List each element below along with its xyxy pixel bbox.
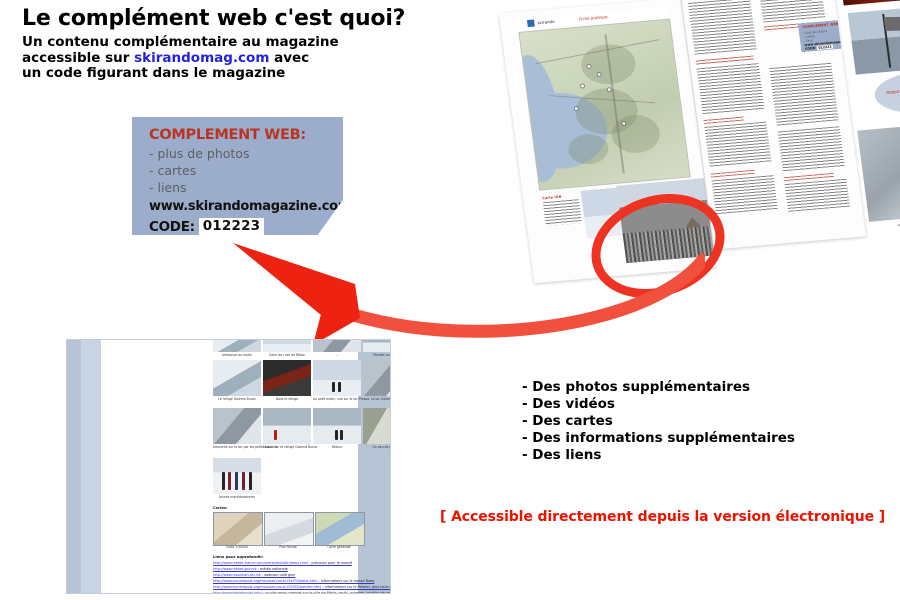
webpage-left-band-inner	[81, 340, 101, 593]
complement-web-box: COMPLEMENT WEB: - plus de photos - carte…	[132, 117, 343, 235]
map-thumb-3[interactable]	[315, 512, 365, 546]
gallery-thumb[interactable]	[213, 360, 261, 396]
magazine-mid-text-3	[704, 122, 771, 167]
gallery-caption: Jeunes macédoniennes	[213, 495, 261, 499]
gallery-caption: Au petit matin, vue sur le lac Prespa	[313, 397, 361, 401]
gallery-caption: ...	[313, 353, 361, 357]
complement-item-cartes: - cartes	[149, 163, 196, 178]
magazine-brand-label: skirando	[537, 18, 555, 24]
magazine-photo-dark	[839, 0, 900, 5]
footer-note: [ Accessible directement depuis la versi…	[440, 509, 885, 525]
gallery-caption: Montée au refuge	[363, 353, 391, 357]
page-title: Le complément web c'est quoi?	[22, 6, 442, 32]
gallery-thumb[interactable]	[313, 360, 361, 396]
magazine-oval-text: Reportage en photographie	[886, 85, 900, 95]
webpage-section-label: Cartes:	[213, 506, 228, 510]
feature-item-photos: - Des photos supplémentaires	[522, 379, 852, 396]
feature-item-informations: - Des informations supplémentaires	[522, 430, 852, 447]
complement-item-liens: - liens	[149, 180, 187, 195]
header-subtitle-line-1: Un contenu complémentaire au magazine	[22, 35, 442, 51]
header-line2-suffix: avec	[269, 50, 309, 66]
feature-item-liens: - Des liens	[522, 447, 852, 464]
magazine-mid-text-8	[778, 126, 845, 171]
gallery-thumb[interactable]	[213, 339, 261, 352]
skirandomag-link[interactable]: skirandomag.com	[134, 50, 269, 66]
webpage-screenshot: ambiance au matin Dans les rues de Bitol…	[66, 339, 391, 594]
gallery-thumb[interactable]	[263, 339, 311, 352]
webpage-content: ambiance au matin Dans les rues de Bitol…	[101, 340, 358, 593]
webpage-link[interactable]: http://www.mountain-ski.mk : webcam coté…	[213, 573, 295, 577]
magazine-text-block-a	[543, 199, 582, 226]
gallery-thumb[interactable]	[363, 360, 391, 396]
magazine-map-caption: Carte IGN	[542, 195, 562, 201]
feature-list: - Des photos supplémentaires - Des vidéo…	[522, 379, 852, 464]
gallery-thumb[interactable]	[213, 458, 261, 494]
magazine-photo-ski	[857, 120, 900, 222]
magazine-mid-text-2	[697, 63, 765, 114]
header-subtitle-line-2: accessible sur skirandomag.com avec	[22, 51, 442, 67]
gallery-thumb[interactable]	[263, 360, 311, 396]
map-thumb-2[interactable]	[264, 512, 314, 546]
complement-web-heading: COMPLEMENT WEB:	[149, 127, 306, 143]
map-thumb-1[interactable]	[213, 512, 263, 546]
webpage-links-title: Liens pour approfondir:	[213, 554, 264, 559]
magazine-mid-text-4	[711, 175, 777, 214]
webpage-link[interactable]: http://www.summitpost.org/mountain/rock/…	[213, 585, 391, 589]
magazine-mid-text-7	[769, 63, 838, 126]
map-caption: Plan Rando	[264, 545, 312, 549]
magazine-photo-flag	[848, 3, 900, 75]
magazine-brand-sub: Fiche pratique	[579, 14, 608, 21]
magazine-oval-callout: Reportage en photographie	[872, 67, 900, 117]
webpage-link[interactable]: http://www.meteo-france.com/meteo/bullet…	[213, 561, 352, 565]
magazine-mid-head-3	[703, 117, 743, 124]
complement-web-url[interactable]: www.skirandomagazine.com	[149, 199, 351, 214]
gallery-caption: Un peu de portage	[363, 445, 391, 449]
webpage-link[interactable]: http://www.summitpost.org/mountain/rock/…	[213, 579, 374, 583]
webpage-left-band	[67, 340, 81, 593]
gallery-caption: Le refuge Golema Bunar	[213, 397, 261, 401]
magazine-mid-text-5	[760, 0, 825, 23]
feature-item-cartes: - Des cartes	[522, 413, 852, 430]
magazine-inline-complement-box: COMPLEMENT WEB: - plus de photos - carte…	[798, 19, 854, 52]
webpage-link[interactable]: http://www.bitolatourist.info/ : un site…	[213, 591, 391, 594]
magazine-map-image	[518, 19, 690, 191]
gallery-thumb[interactable]	[263, 408, 311, 444]
magazine-mid-text-9	[785, 179, 850, 212]
gallery-thumb[interactable]	[213, 408, 261, 444]
map-caption: Carte 1:50000	[213, 545, 261, 549]
header-line2-prefix: accessible sur	[22, 50, 134, 66]
gallery-thumb[interactable]	[313, 339, 361, 352]
gallery-thumb[interactable]	[363, 339, 391, 352]
gallery-caption: Dans les rues de Bitola	[263, 353, 311, 357]
gallery-caption: ambiance au matin	[213, 353, 261, 357]
gallery-caption: Descente sur le lac par les petits coulo…	[213, 445, 261, 449]
gallery-caption: Dans le refuge	[263, 397, 311, 401]
header-block: Le complément web c'est quoi? Un contenu…	[22, 6, 442, 82]
gallery-caption: Skieur, lac et refuge Golema Bunar	[263, 445, 311, 449]
magazine-brand-icon	[527, 20, 535, 28]
feature-item-videos: - Des vidéos	[522, 396, 852, 413]
gallery-caption: Le lac Golema Bunar	[363, 397, 391, 401]
complement-code-label: CODE:	[149, 219, 195, 235]
webpage-link[interactable]: http://www.meteo.gov.mk : météo national…	[213, 567, 288, 571]
webpage-canvas: ambiance au matin Dans les rues de Bitol…	[101, 340, 358, 593]
gallery-caption: Retour	[313, 445, 361, 449]
complement-item-photos: - plus de photos	[149, 146, 249, 161]
magazine-mid-text-1	[688, 0, 757, 55]
gallery-thumb[interactable]	[363, 408, 391, 444]
map-caption: Carte générale	[315, 545, 363, 549]
header-subtitle-line-3: un code figurant dans le magazine	[22, 66, 442, 82]
gallery-thumb[interactable]	[313, 408, 361, 444]
